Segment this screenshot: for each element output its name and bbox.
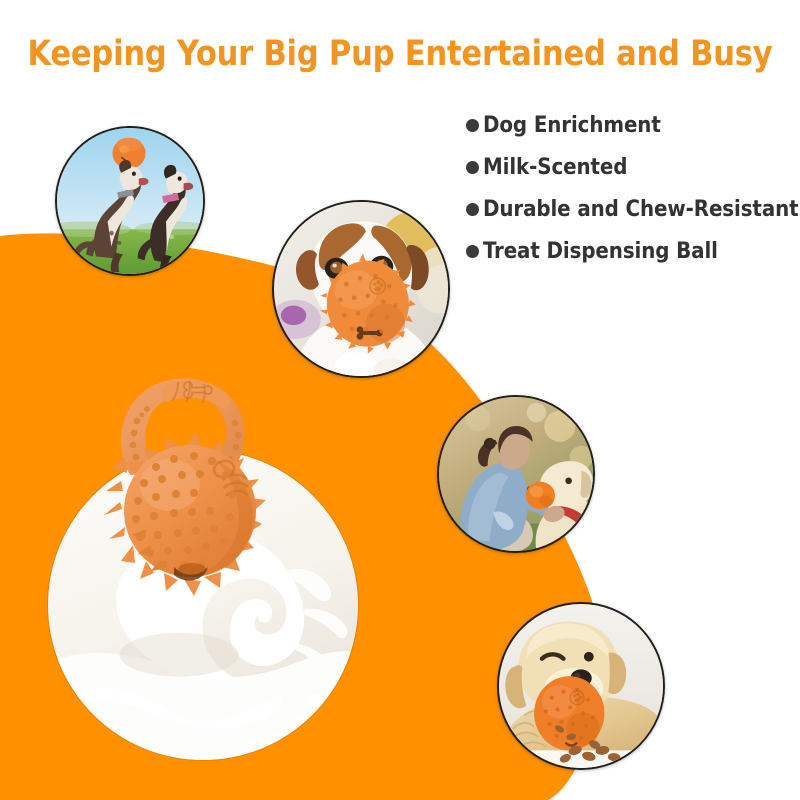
photo-golden-retriever-with-treats [497,602,665,770]
feature-label: Dog Enrichment [483,112,661,138]
bullet-icon [466,245,479,258]
photo-woman-and-labrador [437,395,595,553]
feature-item-milk-scented: Milk-Scented [466,146,796,188]
page-title: Keeping Your Big Pup Entertained and Bus… [12,34,788,74]
hero-product-toy [92,363,282,598]
feature-list: Dog Enrichment Milk-Scented Durable and … [466,104,796,272]
photo-two-dogs-jumping [55,126,205,276]
feature-item-treat-dispensing-ball: Treat Dispensing Ball [466,230,796,272]
infographic-canvas: Keeping Your Big Pup Entertained and Bus… [0,0,800,800]
bullet-icon [466,119,479,132]
photo-jack-russell-with-ball [272,200,450,378]
feature-label: Treat Dispensing Ball [483,238,718,264]
feature-label: Durable and Chew-Resistant [483,196,799,222]
bullet-icon [466,161,479,174]
feature-item-durable-chew-resistant: Durable and Chew-Resistant [466,188,796,230]
bullet-icon [466,203,479,216]
feature-label: Milk-Scented [483,154,627,180]
feature-item-dog-enrichment: Dog Enrichment [466,104,796,146]
